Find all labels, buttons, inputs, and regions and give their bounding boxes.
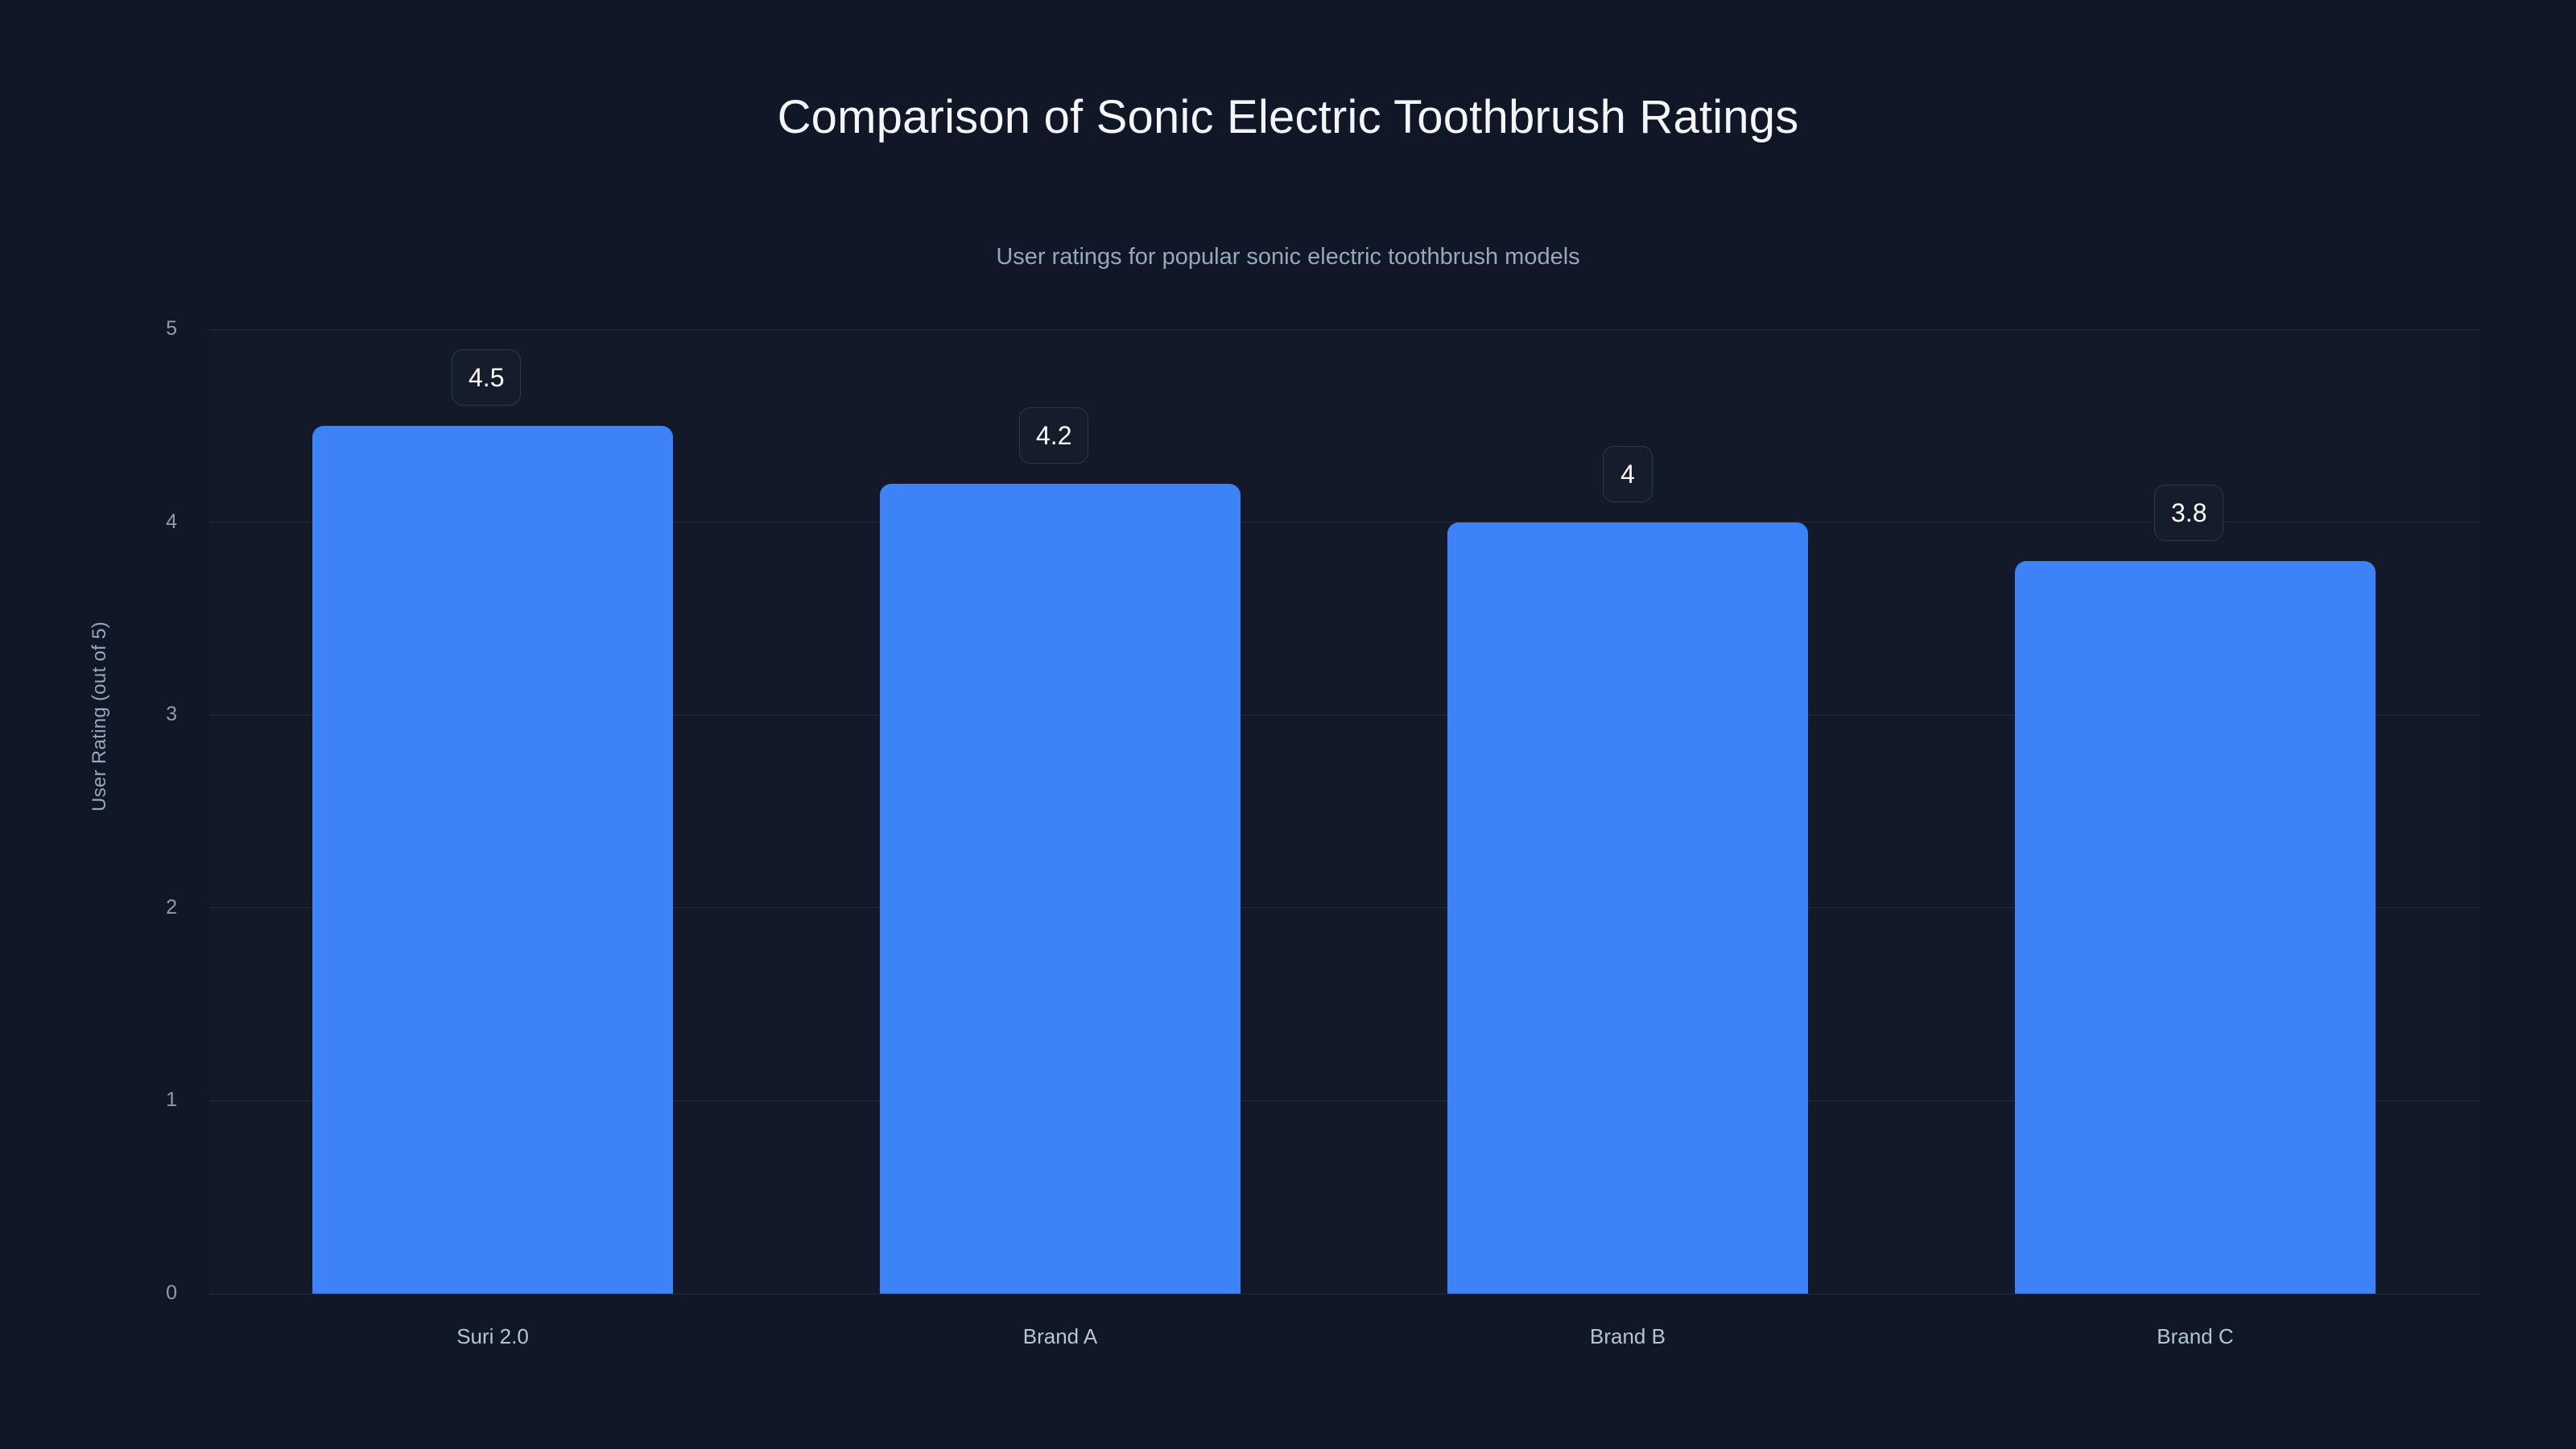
value-badge-brand-a: 4.2 <box>1019 407 1088 464</box>
x-tick-label-brand-b: Brand B <box>1447 1326 1808 1347</box>
y-tick-label-1: 1 <box>129 1090 177 1110</box>
chart-title: Comparison of Sonic Electric Toothbrush … <box>0 90 2576 144</box>
x-tick-label-brand-c: Brand C <box>2015 1326 2376 1347</box>
y-tick-label-0: 0 <box>129 1283 177 1303</box>
value-badge-brand-b: 4 <box>1603 446 1653 502</box>
y-axis-title: User Rating (out of 5) <box>89 621 111 811</box>
bar-brand-a[interactable] <box>880 484 1241 1294</box>
y-tick-label-2: 2 <box>129 898 177 918</box>
y-tick-label-4: 4 <box>129 512 177 532</box>
axis-baseline-y0 <box>209 1294 2479 1294</box>
gridline-y5 <box>209 329 2479 330</box>
y-tick-label-3: 3 <box>129 704 177 724</box>
bar-brand-b[interactable] <box>1447 522 1808 1294</box>
bar-chart-canvas: Comparison of Sonic Electric Toothbrush … <box>0 0 2576 1449</box>
chart-subtitle: User ratings for popular sonic electric … <box>0 244 2576 270</box>
y-tick-label-5: 5 <box>129 319 177 339</box>
bar-suri-2-0[interactable] <box>312 426 673 1294</box>
value-badge-suri-2-0: 4.5 <box>452 349 521 406</box>
x-tick-label-suri-2-0: Suri 2.0 <box>312 1326 673 1347</box>
bar-brand-c[interactable] <box>2015 561 2376 1294</box>
x-tick-label-brand-a: Brand A <box>880 1326 1241 1347</box>
value-badge-brand-c: 3.8 <box>2154 485 2223 541</box>
